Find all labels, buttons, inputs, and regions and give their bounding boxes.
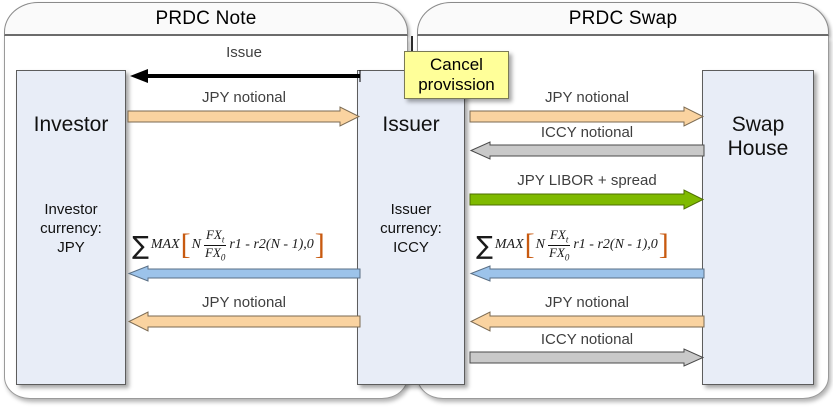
formula-note-fraction: FXt FX0 [203,228,227,262]
formula-swap-sigma: ∑ [476,231,493,260]
flow-note-issue-arrow [128,68,360,84]
formula-note-num-sub: t [222,235,225,245]
flow-swap-jpy-notional-top-label: JPY notional [470,89,704,106]
formula-swap-fn: MAX [495,237,524,253]
party-swap-house: Swap House [702,70,814,385]
flow-swap-jpy-notional-bottom-label: JPY notional [470,294,704,311]
flow-swap-coupon-arrow [470,266,704,282]
flow-note-coupon-arrow [128,266,360,282]
flow-swap-iccy-notional-top-label: ICCY notional [470,124,704,141]
party-issuer-name: Issuer [358,113,464,137]
party-issuer-currency: Issuer currency: ICCY [358,201,464,257]
formula-note-n: N [192,237,201,253]
formula-note: ∑ MAX [ N FXt FX0 r1 - r2(N - 1),0 ] [132,228,326,262]
formula-note-num: FX [206,227,222,242]
diagram-canvas: PRDC Note PRDC Swap Investor Investor cu… [0,0,833,411]
formula-swap-den: FX [549,245,565,260]
flow-swap-jpy-notional-bottom-arrow [470,312,704,332]
flow-note-jpy-notional-bottom-arrow [128,312,360,332]
flow-note-jpy-notional-bottom-label: JPY notional [128,294,360,311]
party-investor: Investor Investor currency: JPY [16,70,126,385]
party-investor-currency: Investor currency: JPY [17,201,125,257]
flow-note-jpy-notional-top-label: JPY notional [128,89,360,106]
formula-swap-tail: r1 - r2(N - 1),0 [573,237,657,253]
formula-swap-fraction: FXt FX0 [547,228,571,262]
flow-note-jpy-notional-top-arrow [128,107,360,127]
flow-swap-iccy-notional-bottom-label: ICCY notional [470,331,704,348]
tab-prdc-note: PRDC Note [4,2,408,36]
flow-swap-jpy-libor-arrow [470,190,704,210]
tab-prdc-note-label: PRDC Note [5,3,407,34]
formula-note-sigma: ∑ [132,231,149,260]
formula-note-tail: r1 - r2(N - 1),0 [229,237,313,253]
formula-note-den: FX [205,245,221,260]
formula-swap: ∑ MAX [ N FXt FX0 r1 - r2(N - 1),0 ] [476,228,670,262]
party-swap-house-name: Swap House [703,113,813,160]
formula-swap-num: FX [550,227,566,242]
party-issuer: Issuer Issuer currency: ICCY [357,70,465,385]
flow-swap-iccy-notional-bottom-arrow [470,349,704,367]
party-investor-name: Investor [17,113,125,137]
tab-prdc-swap: PRDC Swap [417,2,829,36]
formula-note-den-sub: 0 [221,252,226,262]
formula-swap-den-sub: 0 [565,252,570,262]
flow-swap-iccy-notional-top-arrow [470,142,704,160]
formula-swap-n: N [536,237,545,253]
flow-note-issue-label: Issue [128,44,360,61]
flow-swap-jpy-libor-label: JPY LIBOR + spread [470,172,704,189]
tab-prdc-swap-label: PRDC Swap [418,3,828,34]
formula-swap-num-sub: t [566,235,569,245]
formula-note-fn: MAX [151,237,180,253]
